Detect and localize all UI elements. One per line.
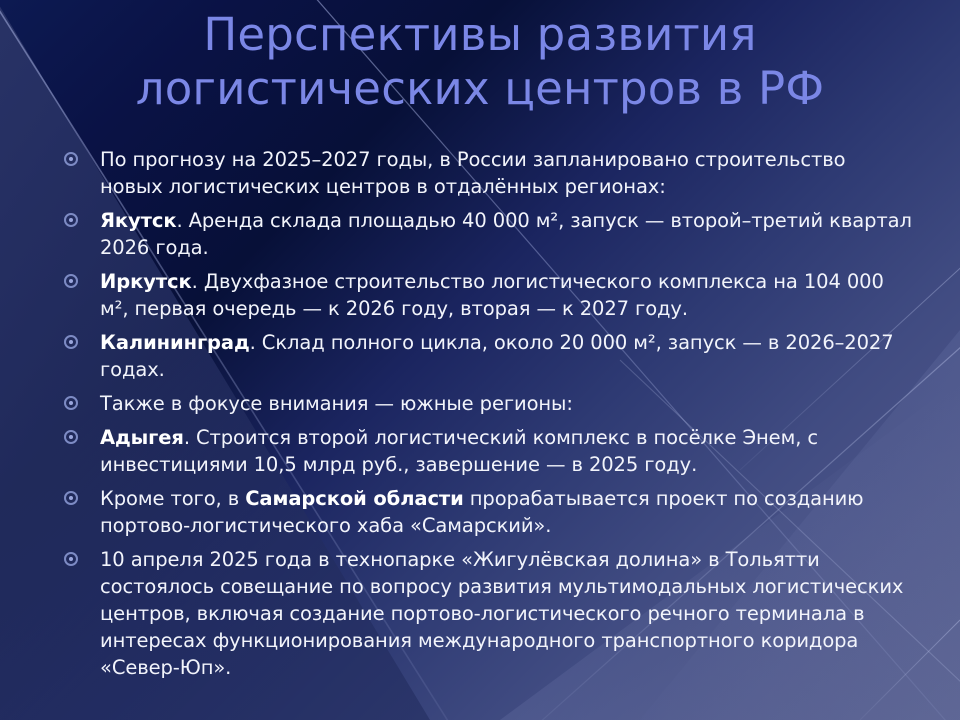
bullet-dot-icon	[64, 491, 78, 505]
bullet-dot-icon	[64, 274, 78, 288]
bullet-item-irkutsk: Иркутск. Двухфазное строительство логист…	[52, 268, 912, 322]
bullet-dot-icon	[64, 552, 78, 566]
bullet-text: Кроме того, в Самарской области прорабат…	[100, 485, 912, 539]
bullet-emphasis: Якутск	[100, 209, 176, 232]
bullet-item-togliatti-meeting: 10 апреля 2025 года в технопарке «Жигулё…	[52, 546, 912, 681]
bullet-emphasis: Калининград	[100, 331, 250, 354]
slide-title-line-1: Перспективы развития	[60, 8, 900, 62]
bullet-text: 10 апреля 2025 года в технопарке «Жигулё…	[100, 546, 912, 681]
bullet-item-adygea: Адыгея. Строится второй логистический ко…	[52, 424, 912, 478]
bullet-run: Кроме того, в	[100, 487, 245, 510]
bullet-text: По прогнозу на 2025–2027 годы, в России …	[100, 146, 912, 200]
presentation-slide: Перспективы развития логистических центр…	[0, 0, 960, 720]
bullet-run: . Аренда склада площадью 40 000 м², запу…	[100, 209, 912, 259]
bullet-run: Также в фокусе внимания — южные регионы:	[100, 392, 573, 415]
bullet-dot-icon	[64, 396, 78, 410]
bullet-dot-icon	[64, 152, 78, 166]
bullet-emphasis: Самарской области	[245, 487, 463, 510]
bullet-text: Иркутск. Двухфазное строительство логист…	[100, 268, 912, 322]
bullet-text: Адыгея. Строится второй логистический ко…	[100, 424, 912, 478]
bullet-text: Также в фокусе внимания — южные регионы:	[100, 390, 912, 417]
bullet-text: Якутск. Аренда склада площадью 40 000 м²…	[100, 207, 912, 261]
bullet-run: . Строится второй логистический комплекс…	[100, 426, 818, 476]
bullet-text: Калининград. Склад полного цикла, около …	[100, 329, 912, 383]
bullet-dot-icon	[64, 213, 78, 227]
bullet-item-kaliningrad: Калининград. Склад полного цикла, около …	[52, 329, 912, 383]
bullet-emphasis: Адыгея	[100, 426, 184, 449]
bullet-item-yakutsk: Якутск. Аренда склада площадью 40 000 м²…	[52, 207, 912, 261]
bullet-emphasis: Иркутск	[100, 270, 192, 293]
bullet-dot-icon	[64, 335, 78, 349]
bullet-dot-icon	[64, 430, 78, 444]
bullet-run: . Двухфазное строительство логистическог…	[100, 270, 884, 320]
slide-title-line-2: логистических центров в РФ	[60, 62, 900, 116]
bullet-item-samara-region: Кроме того, в Самарской области прорабат…	[52, 485, 912, 539]
bullet-list: По прогнозу на 2025–2027 годы, в России …	[52, 146, 912, 681]
slide-title: Перспективы развития логистических центр…	[60, 8, 900, 116]
bullet-item-southern-regions-intro: Также в фокусе внимания — южные регионы:	[52, 390, 912, 417]
bullet-run: По прогнозу на 2025–2027 годы, в России …	[100, 148, 846, 198]
bullet-run: 10 апреля 2025 года в технопарке «Жигулё…	[100, 548, 903, 679]
bullet-item-forecast-intro: По прогнозу на 2025–2027 годы, в России …	[52, 146, 912, 200]
